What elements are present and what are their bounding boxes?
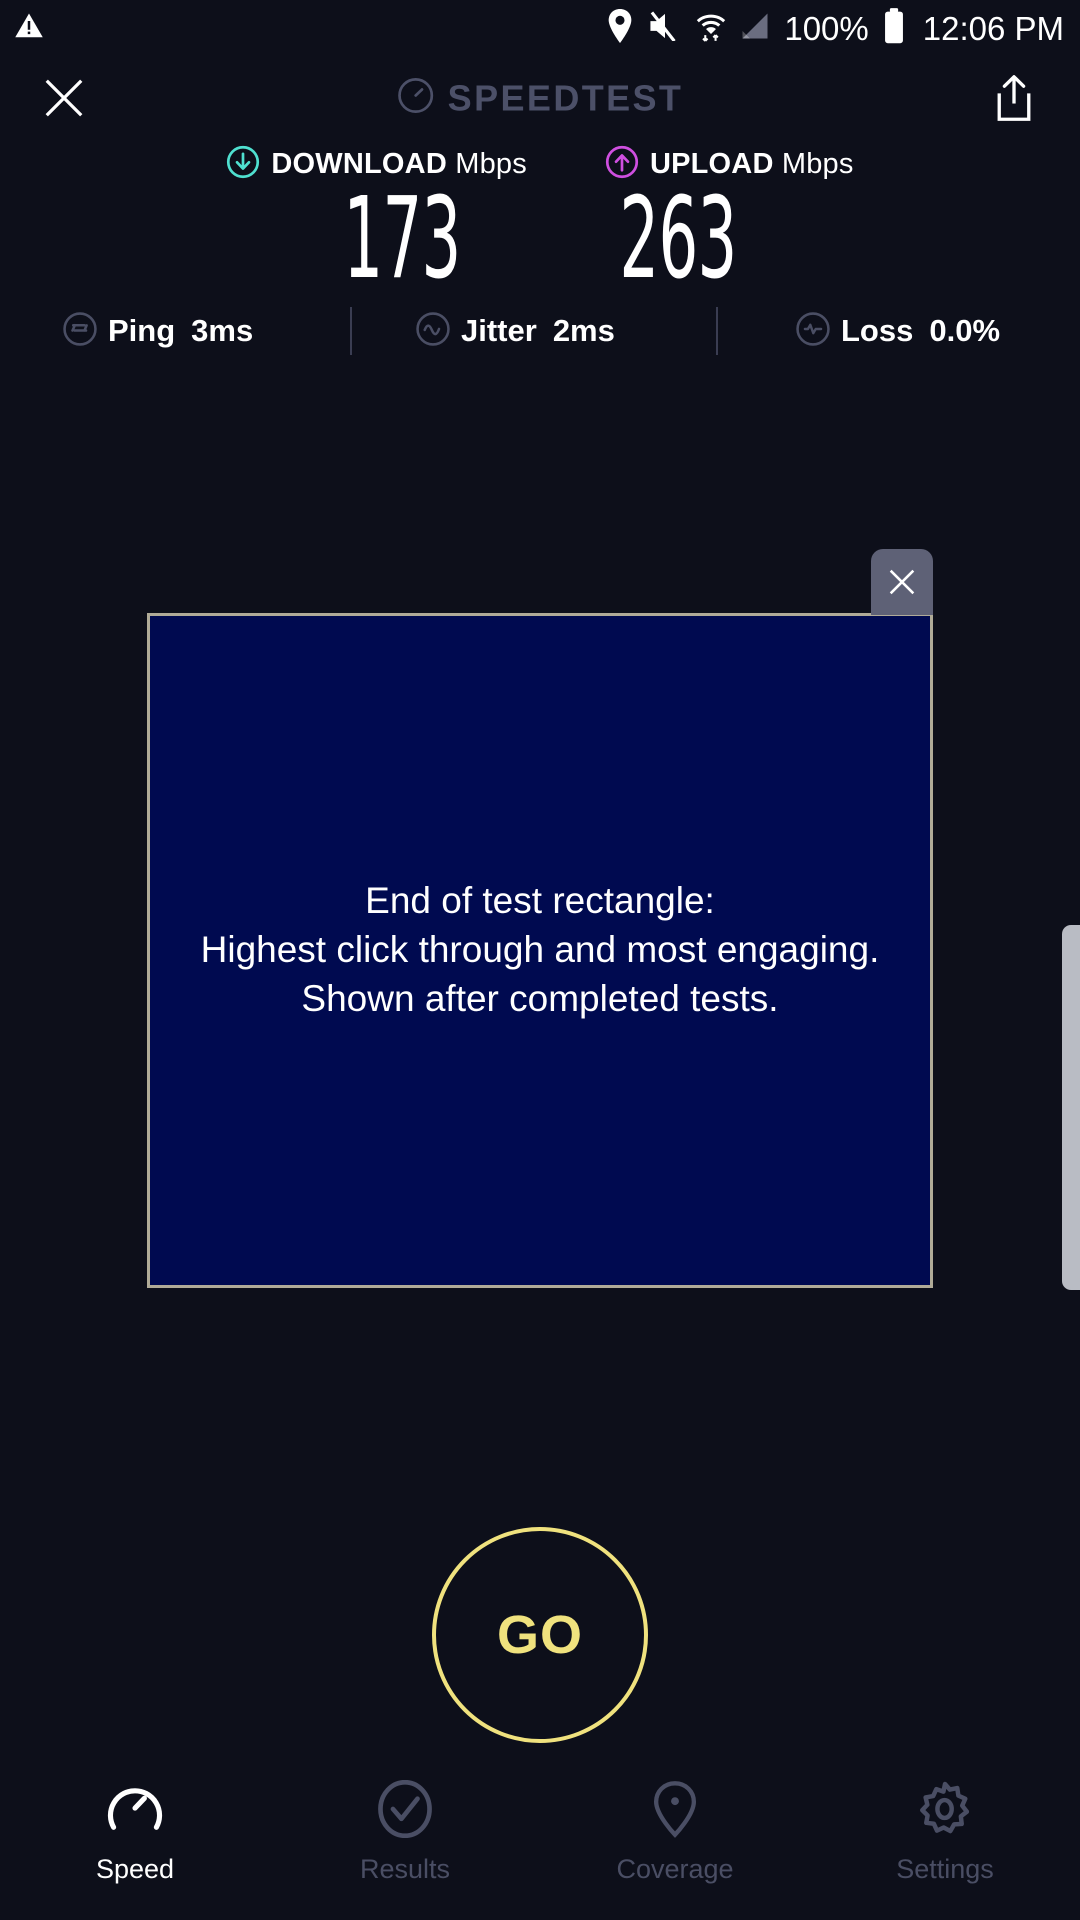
results-panel: DOWNLOAD Mbps UPLOAD Mbps 173 263 [0,140,1080,296]
app-brand: SPEEDTEST [397,77,684,120]
go-button-label: GO [497,1604,583,1666]
nav-label-speed: Speed [96,1854,174,1885]
advertisement-container: End of test rectangle: Highest click thr… [147,613,933,1288]
metrics-row: Ping 3ms Jitter 2ms Loss 0.0 [0,300,1080,362]
metric-divider-1 [350,307,352,355]
download-value: 173 [290,188,513,291]
jitter-name: Jitter [461,313,537,349]
nav-item-coverage[interactable]: Coverage [540,1760,810,1920]
loss-value: 0.0% [929,313,1000,349]
download-arrow-icon [226,145,260,184]
ad-close-button[interactable] [871,549,933,615]
advertisement-banner[interactable]: End of test rectangle: Highest click thr… [147,613,933,1288]
warning-triangle-icon [14,11,44,46]
metric-loss: Loss 0.0% [795,311,1000,352]
bottom-navigation: Speed Results Coverage [0,1760,1080,1920]
metric-jitter: Jitter 2ms [415,311,615,352]
go-button[interactable]: GO [432,1527,648,1743]
speedtest-app-screen: 100% 12:06 PM SPEEDTEST [0,0,1080,1920]
wifi-icon [696,10,726,47]
nav-item-settings[interactable]: Settings [810,1760,1080,1920]
cellular-signal-icon [740,12,770,45]
jitter-value: 2ms [553,313,615,349]
share-button[interactable] [988,70,1040,126]
metric-ping: Ping 3ms [62,311,253,352]
location-pin-icon [606,9,634,48]
app-title: SPEEDTEST [448,77,684,119]
ping-icon [62,311,98,352]
battery-icon [883,8,905,49]
nav-label-coverage: Coverage [616,1854,733,1885]
status-bar-left [14,11,44,46]
nav-item-speed[interactable]: Speed [0,1760,270,1920]
speedometer-icon [106,1778,164,1840]
gear-icon [916,1778,974,1840]
nav-label-results: Results [360,1854,450,1885]
results-labels-row: DOWNLOAD Mbps UPLOAD Mbps [0,140,1080,188]
results-values-row: 173 263 [0,188,1080,296]
location-pin-icon [646,1778,704,1840]
metric-divider-2 [716,307,718,355]
jitter-icon [415,311,451,352]
loss-name: Loss [841,313,913,349]
loss-icon [795,311,831,352]
battery-percent-label: 100% [784,12,868,45]
speedometer-logo-icon [397,77,435,120]
check-circle-icon [376,1778,434,1840]
nav-label-settings: Settings [896,1854,994,1885]
ping-name: Ping [108,313,175,349]
nav-item-results[interactable]: Results [270,1760,540,1920]
app-header: SPEEDTEST [0,56,1080,140]
mute-icon [648,11,682,46]
status-bar: 100% 12:06 PM [0,0,1080,56]
advertisement-text: End of test rectangle: Highest click thr… [201,877,880,1023]
upload-value: 263 [566,188,789,291]
ping-value: 3ms [191,313,253,349]
clock-label: 12:06 PM [923,12,1064,45]
vertical-scrollbar[interactable] [1062,925,1080,1290]
close-button[interactable] [36,70,92,126]
status-bar-right: 100% 12:06 PM [606,8,1064,49]
